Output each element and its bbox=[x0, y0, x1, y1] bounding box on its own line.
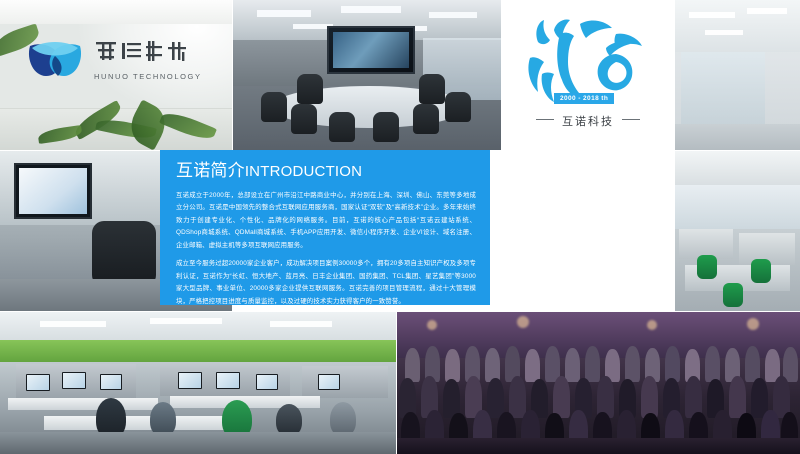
anniversary-badge: 2000 - 2018 th bbox=[554, 93, 614, 104]
gutter bbox=[0, 311, 800, 312]
floor bbox=[0, 432, 396, 454]
desk bbox=[44, 416, 224, 430]
employee bbox=[330, 402, 356, 436]
chair bbox=[697, 255, 717, 279]
intro-paragraph: 互诺成立于2000年，总部设立在广州市沿江中路商业中心，并分别在上海、深圳、佛山… bbox=[176, 190, 476, 252]
introduction-body: 互诺成立于2000年，总部设立在广州市沿江中路商业中心，并分别在上海、深圳、佛山… bbox=[176, 190, 476, 308]
green-wall-band bbox=[0, 340, 396, 362]
photo-open-office-right bbox=[675, 151, 800, 311]
intro-paragraph: 成立至今服务过超20000家企业客户，成功解决项目案例30000多个，拥有20多… bbox=[176, 258, 476, 308]
ceiling bbox=[675, 151, 800, 185]
office-chair bbox=[92, 221, 156, 287]
stage-light bbox=[647, 320, 657, 330]
photo-office-corridor bbox=[675, 0, 800, 150]
monitor bbox=[178, 372, 202, 389]
photo-anniversary-board: 2000 - 2018 th 互诺科技 bbox=[502, 0, 674, 150]
employee bbox=[150, 402, 176, 436]
stage-floor bbox=[397, 438, 800, 454]
page-title-cn: 互诺简介 bbox=[176, 161, 245, 180]
monitor bbox=[216, 372, 240, 389]
photo-lobby-logo-wall: HUNUO TECHNOLOGY bbox=[0, 0, 232, 150]
page-title: 互诺简介INTRODUCTION bbox=[176, 162, 476, 179]
chair bbox=[723, 283, 743, 307]
monitor bbox=[318, 374, 340, 390]
glass-partition bbox=[681, 52, 765, 124]
chair bbox=[413, 104, 439, 134]
chair bbox=[297, 74, 323, 104]
gutter bbox=[501, 0, 502, 151]
partition bbox=[302, 366, 388, 398]
desk bbox=[8, 398, 158, 410]
chair bbox=[751, 259, 771, 283]
chair bbox=[291, 104, 317, 134]
photo-open-office-large bbox=[0, 312, 396, 454]
window bbox=[675, 185, 800, 229]
introduction-panel: 互诺简介INTRODUCTION 互诺成立于2000年，总部设立在广州市沿江中路… bbox=[160, 150, 490, 305]
monitor bbox=[256, 374, 278, 390]
monitor bbox=[14, 163, 92, 219]
gutter bbox=[396, 312, 397, 454]
monitor bbox=[62, 372, 86, 389]
company-profile-collage: HUNUO TECHNOLOGY bbox=[0, 0, 800, 454]
stage-light bbox=[517, 316, 529, 328]
monitor bbox=[26, 374, 50, 391]
page-title-en: INTRODUCTION bbox=[245, 163, 362, 180]
wall-display bbox=[327, 26, 415, 74]
chair bbox=[329, 112, 355, 142]
ceiling bbox=[675, 0, 800, 52]
ceiling bbox=[0, 0, 232, 24]
wall-logo: HUNUO TECHNOLOGY bbox=[24, 34, 202, 96]
photo-group-photo bbox=[397, 312, 800, 454]
photo-meeting-room bbox=[233, 0, 501, 150]
stage-light bbox=[747, 318, 759, 330]
anniversary-caption: 互诺科技 bbox=[502, 113, 674, 129]
chair bbox=[419, 74, 445, 104]
stage-light bbox=[427, 320, 437, 330]
chair bbox=[445, 92, 471, 122]
company-name-cn-plaque bbox=[94, 36, 202, 70]
ceiling bbox=[0, 312, 396, 342]
monitor bbox=[100, 374, 122, 390]
company-name-en: HUNUO TECHNOLOGY bbox=[94, 72, 202, 81]
chair bbox=[373, 112, 399, 142]
chair bbox=[261, 92, 287, 122]
floor bbox=[675, 124, 800, 150]
gutter bbox=[674, 0, 675, 312]
hunuo-infinity-logo-icon bbox=[24, 36, 86, 88]
